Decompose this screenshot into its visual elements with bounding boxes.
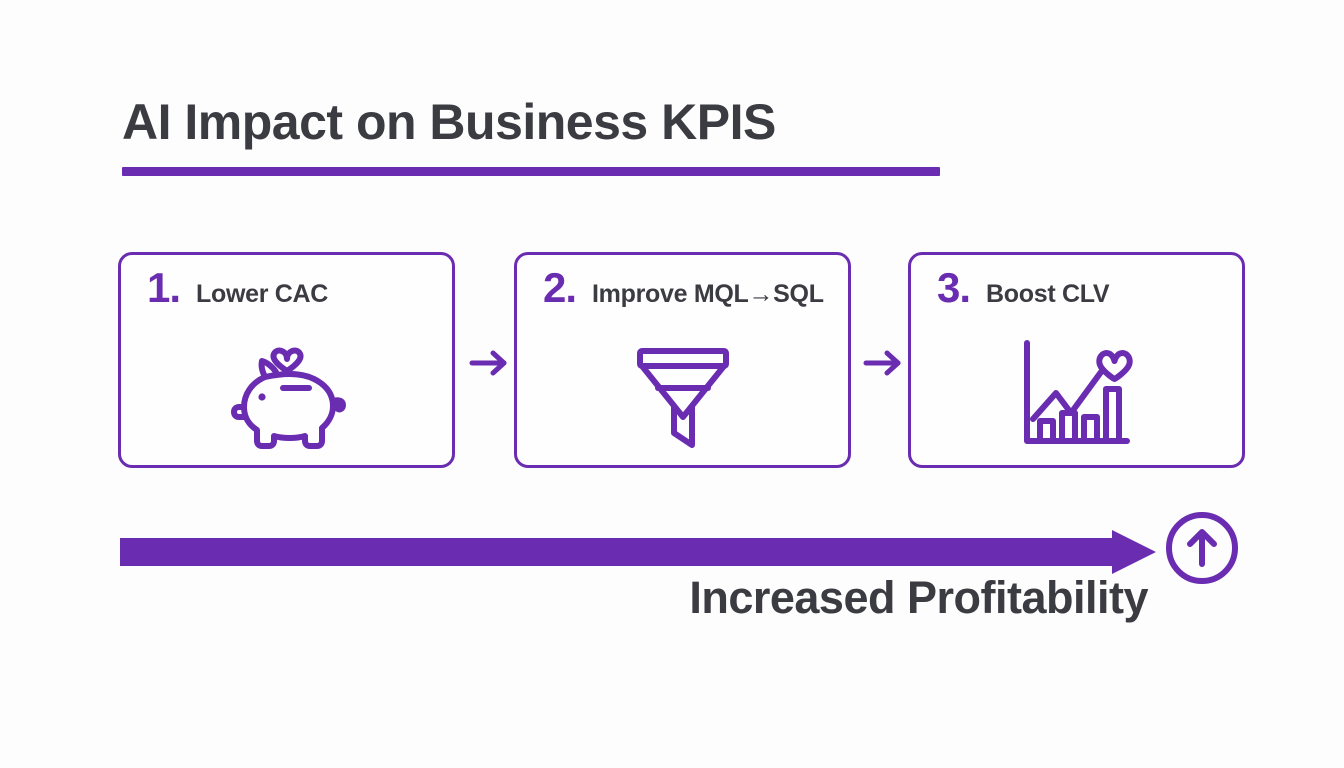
step-card-1-header: 1. Lower CAC <box>147 267 452 309</box>
piggy-bank-heart-icon <box>219 329 355 457</box>
title-underline <box>122 167 940 176</box>
page-title: AI Impact on Business KPIS <box>122 96 952 149</box>
step-card-2[interactable]: 2. Improve MQL→SQL <box>514 252 851 468</box>
step-card-3[interactable]: 3. Boost CLV <box>908 252 1245 468</box>
step-card-1-number: 1. <box>147 267 180 309</box>
step-card-2-label: Improve MQL→SQL <box>592 282 824 307</box>
step-card-2-header: 2. Improve MQL→SQL <box>543 267 848 309</box>
circle-arrow-up-icon <box>1163 509 1241 587</box>
step-card-3-label: Boost CLV <box>986 282 1109 307</box>
growth-chart-heart-icon <box>1009 329 1145 457</box>
outcome-arrow <box>120 530 1156 574</box>
funnel-icon <box>615 329 751 457</box>
connector-arrow-2 <box>860 346 908 380</box>
steps-row: 1. Lower CAC <box>118 252 1248 472</box>
title-block: AI Impact on Business KPIS <box>122 96 952 176</box>
slide-canvas: AI Impact on Business KPIS 1. Lower CAC <box>0 0 1344 768</box>
step-card-2-number: 2. <box>543 267 576 309</box>
outcome-caption: Increased Profitability <box>0 572 1148 624</box>
step-card-3-header: 3. Boost CLV <box>937 267 1242 309</box>
connector-arrow-1 <box>466 346 514 380</box>
step-card-1[interactable]: 1. Lower CAC <box>118 252 455 468</box>
step-card-1-label: Lower CAC <box>196 282 328 307</box>
step-card-3-number: 3. <box>937 267 970 309</box>
